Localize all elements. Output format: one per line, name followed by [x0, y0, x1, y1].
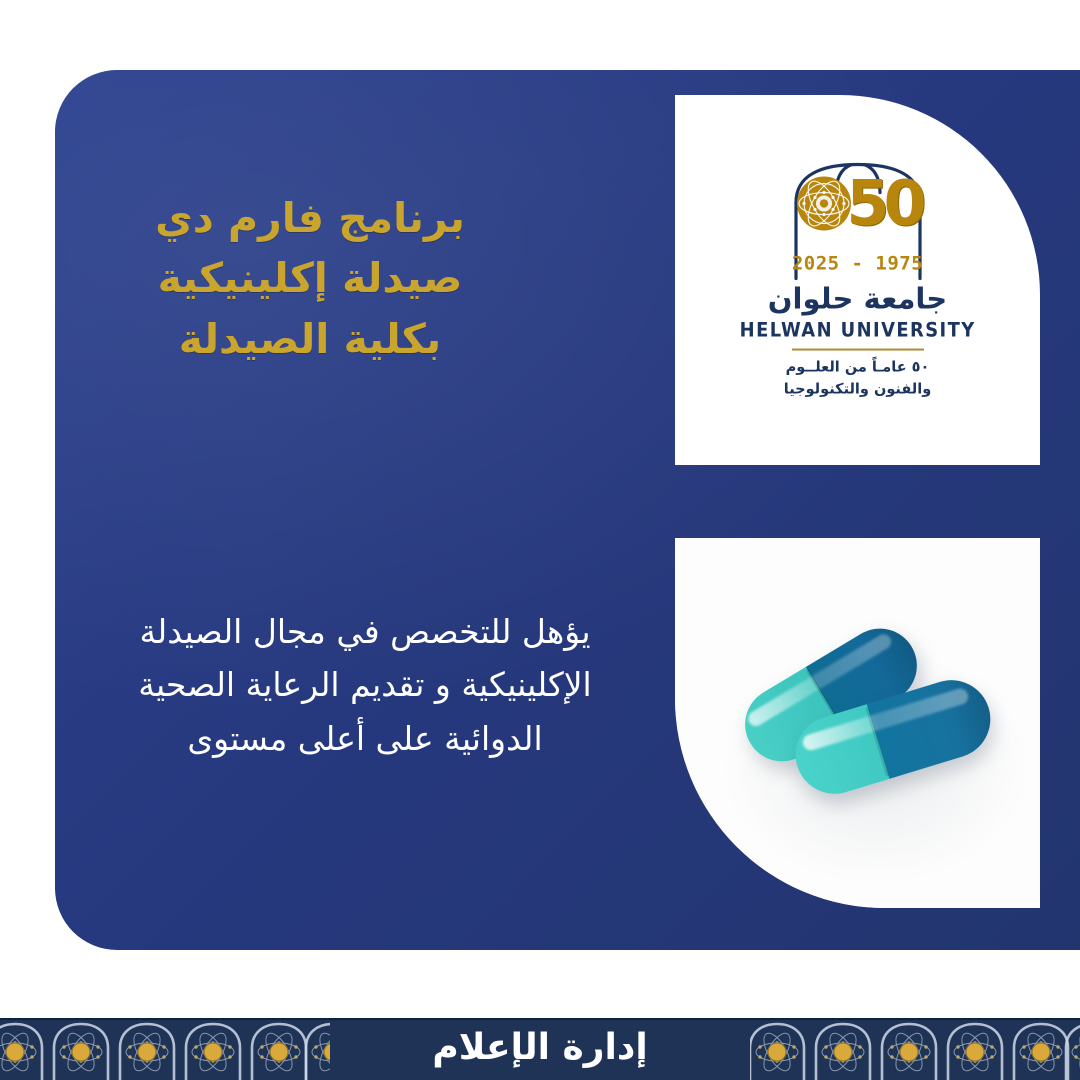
- logo-tagline-line-2: والفنون والتكنولوجيا: [784, 379, 931, 401]
- anniversary-number: 50: [846, 173, 920, 235]
- logo-tagline: ٥٠ عامـاً من العلــوم والفنون والتكنولوج…: [784, 357, 931, 402]
- body-line-3: الدوائية على أعلى مستوى: [85, 712, 645, 765]
- logo-tagline-line-1: ٥٠ عامـاً من العلــوم: [784, 357, 931, 379]
- atom-icon: [794, 174, 854, 234]
- footer-pattern-left: [0, 1018, 330, 1080]
- capsules-image-panel: [675, 538, 1040, 908]
- atom-arch-pattern-icon: [750, 1018, 1080, 1080]
- body-line-1: يؤهل للتخصص في مجال الصيدلة: [85, 605, 645, 658]
- logo-arch-frame: 50: [782, 159, 934, 281]
- atom-arch-pattern-icon: [0, 1018, 330, 1080]
- logo-name-arabic: جامعة حلوان: [768, 285, 947, 314]
- logo-name-english: HELWAN UNIVERSITY: [740, 319, 976, 342]
- page-title: برنامج فارم دي صيدلة إكلينيكية بكلية الص…: [100, 188, 520, 369]
- footer-title: إدارة الإعلام: [432, 1027, 647, 1072]
- footer-bar: إدارة الإعلام: [0, 1018, 1080, 1080]
- helwan-university-logo: 50: [675, 159, 1040, 402]
- footer-pattern-right: [750, 1018, 1080, 1080]
- logo-divider: [792, 349, 924, 351]
- logo-years-range: 1975 - 2025: [782, 253, 934, 275]
- description-text: يؤهل للتخصص في مجال الصيدلة الإكلينيكية …: [85, 605, 645, 765]
- body-line-2: الإكلينيكية و تقديم الرعاية الصحية: [85, 658, 645, 711]
- headline-line-3: بكلية الصيدلة: [100, 309, 520, 369]
- headline-line-2: صيدلة إكلينيكية: [100, 248, 520, 308]
- capsules-photo: [675, 538, 1040, 908]
- anniversary-50-mark: 50: [782, 173, 934, 235]
- headline-line-1: برنامج فارم دي: [100, 188, 520, 248]
